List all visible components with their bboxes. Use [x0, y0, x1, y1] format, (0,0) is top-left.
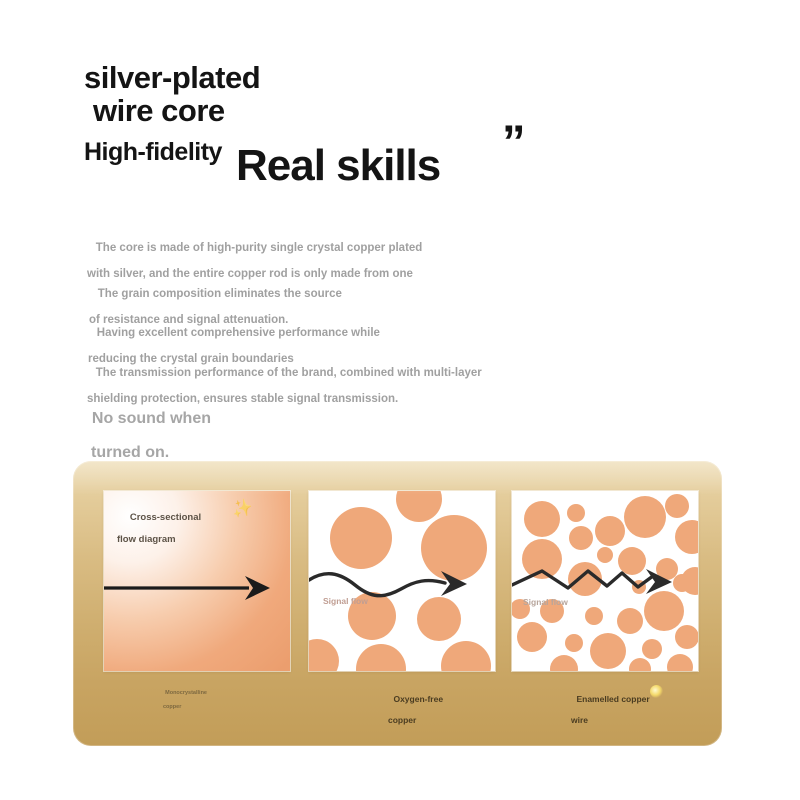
- note-line-2: turned on.: [83, 444, 211, 461]
- caption-line-1: Enamelled copper: [576, 694, 649, 704]
- caption-line-2: copper: [384, 715, 443, 726]
- cross-sectional-flow-title: Cross-sectional flow diagram: [114, 501, 201, 567]
- headline-emphasis: Real skills: [236, 144, 440, 188]
- feature-line-1: The core is made of high-purity single c…: [96, 242, 423, 254]
- feature-list: The core is made of high-purity single c…: [0, 215, 800, 395]
- panel-title-line-2: flow diagram: [114, 534, 201, 545]
- caption-line-1: Oxygen-free: [393, 694, 443, 704]
- caption-line-2: copper: [159, 704, 207, 711]
- watermark-sparkle-icon: ✨: [230, 497, 254, 521]
- caption-monocrystalline-copper: Monocrystalline copper: [159, 683, 207, 724]
- enamelled-wire-illustration: [512, 491, 698, 671]
- panel-title-line-1: Cross-sectional: [130, 512, 201, 523]
- note-line-1: No sound when: [92, 410, 211, 427]
- caption-oxygen-free-copper: Oxygen-free copper: [384, 683, 443, 747]
- caption-line-1: Monocrystalline: [165, 690, 207, 696]
- signal-flow-label: Signal flow: [523, 597, 568, 607]
- headline-line-1: silver-plated: [84, 62, 260, 93]
- diagram-enamelled-copper-wire: Signal flow: [512, 491, 698, 671]
- feature-line-1: The transmission performance of the bran…: [96, 367, 482, 379]
- oxygen-free-illustration: [309, 491, 495, 671]
- headline-line-2: wire core: [93, 95, 225, 126]
- closing-quote-mark: ”: [502, 118, 526, 165]
- feature-line-1: Having excellent comprehensive performan…: [97, 327, 380, 339]
- headline-block: silver-plated wire core High-fidelity Re…: [0, 0, 800, 210]
- diagram-gold-panel: ✨ Cross-sectional flow diagram: [73, 461, 722, 746]
- diagram-monocrystalline-copper: ✨ Cross-sectional flow diagram: [104, 491, 290, 671]
- headline-subtitle: High-fidelity: [84, 140, 222, 165]
- signal-flow-label: Signal flow: [323, 596, 368, 606]
- diagram-oxygen-free-copper: Signal flow: [309, 491, 495, 671]
- sparkle-dot-icon: [650, 685, 663, 698]
- feature-line-1: The grain composition eliminates the sou…: [98, 288, 342, 300]
- caption-line-2: wire: [567, 715, 650, 726]
- caption-enamelled-copper-wire: Enamelled copper wire: [567, 683, 650, 747]
